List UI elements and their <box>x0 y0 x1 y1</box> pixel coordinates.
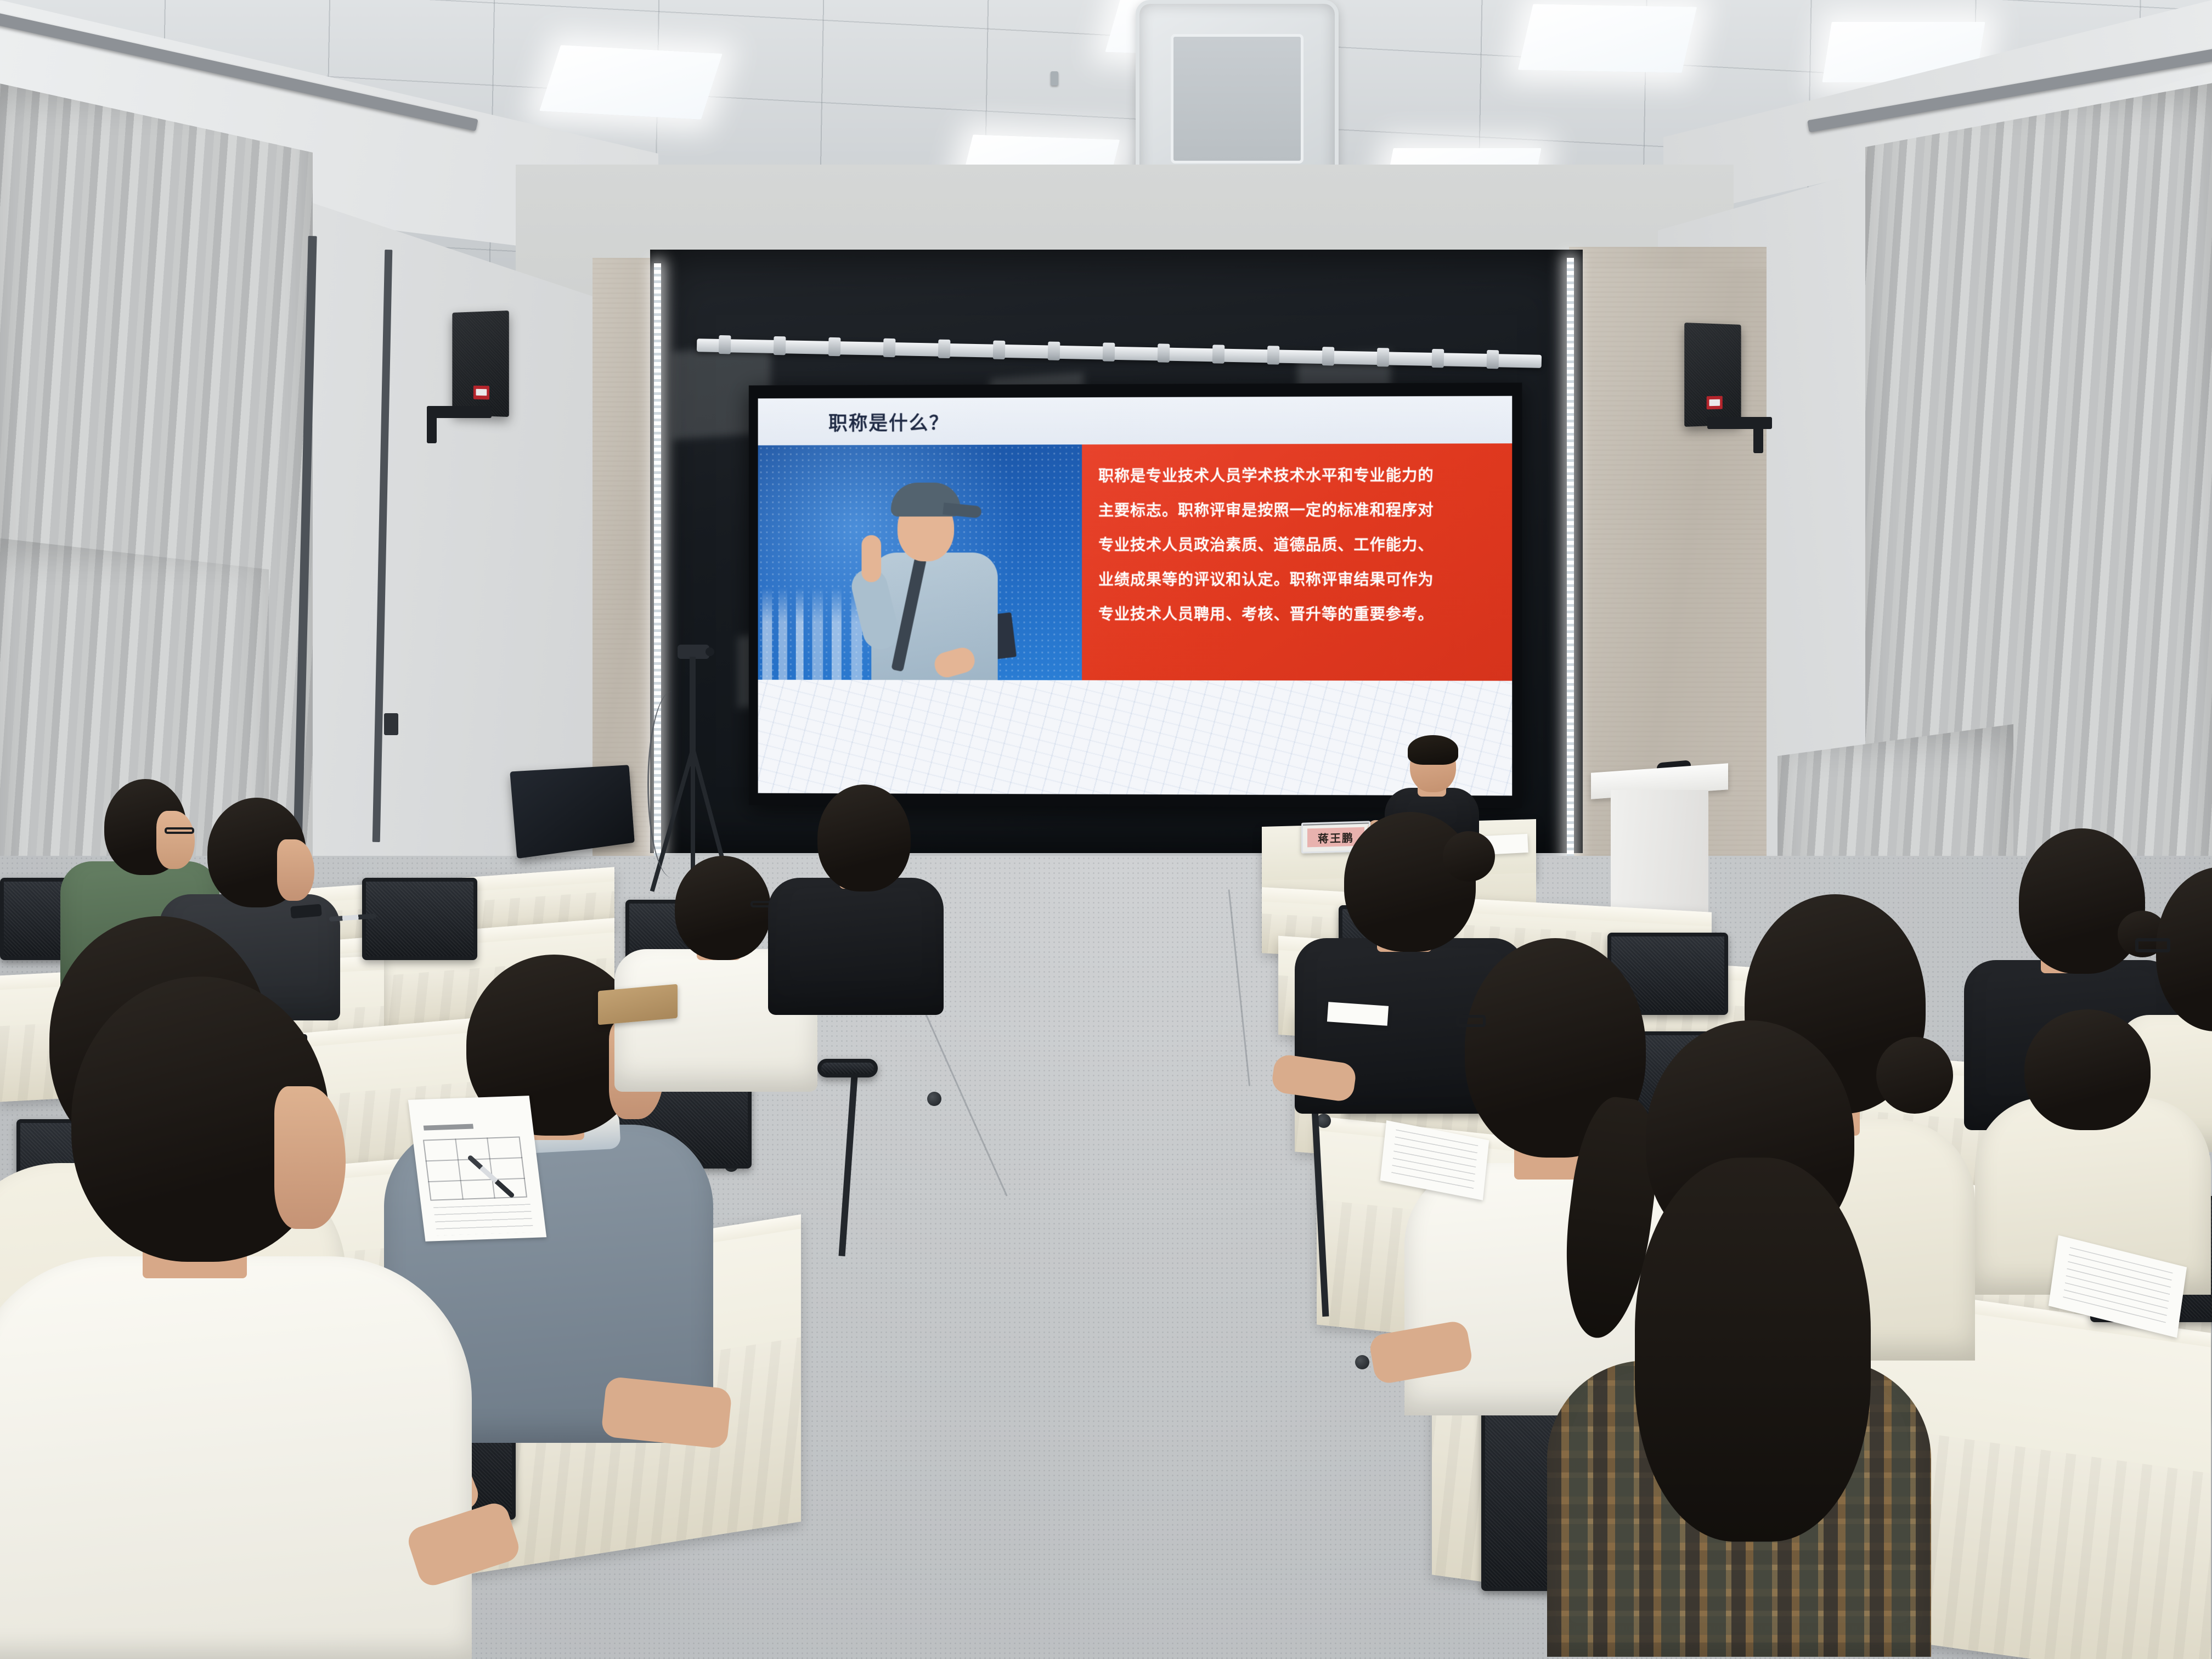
meeting-room-photo: 职称是什么？ <box>0 0 2212 1659</box>
light-bar-clip <box>1158 343 1170 362</box>
light-bar-clip <box>774 336 786 355</box>
jbl-logo-icon <box>473 386 489 399</box>
long-hair <box>1635 1158 1871 1542</box>
desk-caster <box>1355 1355 1369 1369</box>
person-black-turtleneck <box>768 785 949 1004</box>
speaker-cabinet <box>452 311 509 417</box>
person-long-hair-woman <box>1547 1020 1942 1657</box>
light-bar-clip <box>1322 347 1335 365</box>
slide-body-line-3: 专业技术人员政治素质、道德品质、工作能力、 <box>1098 527 1496 562</box>
chair-left-1[interactable] <box>362 878 477 960</box>
head <box>675 856 771 960</box>
desk-caster <box>927 1092 941 1106</box>
slide-person-figure <box>853 469 1017 680</box>
jbl-speaker-right <box>1684 323 1741 427</box>
jbl-speaker-left <box>452 311 509 417</box>
presenter-hair <box>1408 735 1458 765</box>
head <box>1344 812 1476 952</box>
handout-form[interactable] <box>408 1096 546 1242</box>
light-bar-clip <box>1267 346 1280 364</box>
slide-content-row: 职称是专业技术人员学术技术水平和专业能力的 主要标志。职称评审是按照一定的标准和… <box>758 443 1513 681</box>
glasses-icon <box>2135 938 2170 952</box>
wall-switch-plate[interactable] <box>384 713 398 735</box>
chair-armrest-pad <box>817 1059 878 1077</box>
floor-seam-2 <box>1228 889 1251 1086</box>
light-bar-clip <box>1377 348 1390 366</box>
slide-title-text: 职称是什么？ <box>828 408 949 436</box>
face-profile <box>277 839 314 901</box>
slide-body-line-2: 主要标志。职称评审是按照一定的标准和程序对 <box>1098 493 1496 528</box>
jbl-logo-icon <box>1707 396 1723 410</box>
glasses-icon <box>1456 1015 1486 1027</box>
light-bar-clip <box>828 337 841 356</box>
camera-cable <box>647 691 697 878</box>
wood-panel-right-upper <box>1569 247 1767 269</box>
hair-bun <box>1443 831 1495 882</box>
light-bar-clip <box>1048 342 1060 360</box>
slide-body-line-5: 专业技术人员聘用、考核、晋升等的重要参考。 <box>1098 597 1496 631</box>
slide-body-line-1: 职称是专业技术人员学术技术水平和专业能力的 <box>1098 458 1496 493</box>
form-table-grid <box>423 1136 527 1200</box>
slide-title-bar: 职称是什么？ <box>758 396 1513 445</box>
ceiling-light-2 <box>1518 4 1697 72</box>
speaker-bracket-left-arm <box>427 406 437 443</box>
form-title-line <box>424 1124 473 1131</box>
chair-armrest-left[interactable] <box>817 1059 878 1077</box>
light-bar-clip <box>938 340 951 358</box>
slide-body-line-4: 业绩成果等的评议和认定。职称评审结果可作为 <box>1098 562 1496 597</box>
confidence-monitor <box>510 765 634 859</box>
torso <box>768 878 944 1015</box>
light-bar-clip <box>993 341 1006 359</box>
speaker-bracket-right-arm <box>1753 417 1763 453</box>
head <box>2024 1009 2151 1130</box>
light-bar-clip <box>1212 345 1225 363</box>
light-bar-clip <box>1103 342 1115 361</box>
slide-person-cap <box>891 483 961 517</box>
light-bar-clip <box>883 338 896 357</box>
speaker-cabinet <box>1684 323 1741 427</box>
torso <box>0 1256 472 1659</box>
handout-ruled-lines <box>1391 1130 1479 1191</box>
led-strip-right <box>1567 258 1574 867</box>
light-bar-clip <box>719 335 731 354</box>
ceiling-light-3 <box>539 45 723 120</box>
sprinkler-head-1 <box>1051 71 1058 86</box>
light-bar-clip <box>1432 349 1444 368</box>
slide-illustration <box>758 444 1082 680</box>
person-white-tee-foreground <box>0 960 560 1659</box>
face-profile <box>274 1086 346 1229</box>
head <box>817 785 911 891</box>
paper-near-black-tee[interactable] <box>1327 1002 1389 1026</box>
notebook-on-desk[interactable] <box>598 984 678 1025</box>
slide-red-text-panel: 职称是专业技术人员学术技术水平和专业能力的 主要标志。职称评审是按照一定的标准和… <box>1082 443 1512 681</box>
light-bar-clip <box>1487 350 1499 369</box>
slide-person-thumb-up <box>861 535 881 582</box>
chair-backrest <box>362 878 477 960</box>
form-ruled-lines <box>433 1204 534 1235</box>
